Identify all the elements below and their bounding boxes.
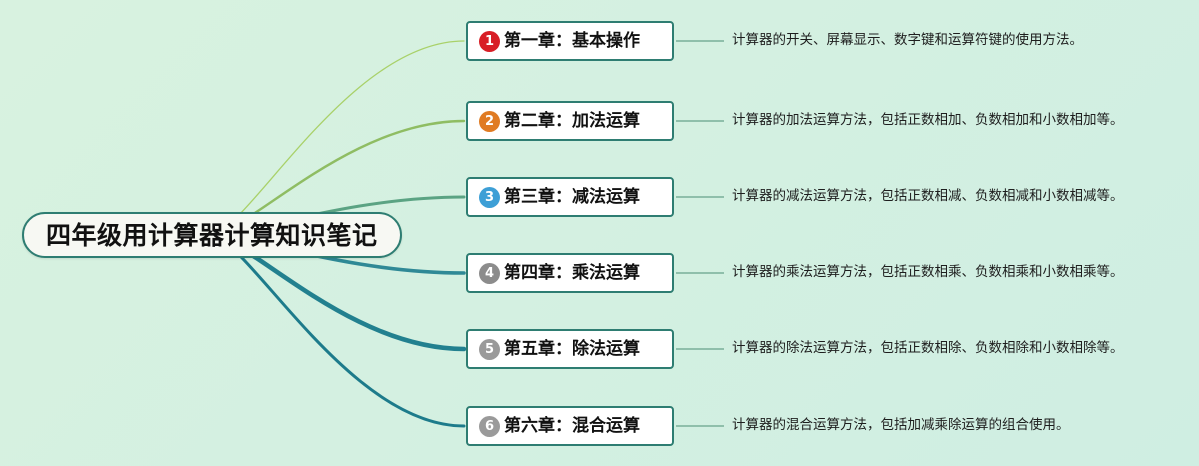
chapter-description-3: 计算器的减法运算方法，包括正数相减、负数相减和小数相减等。 [732, 190, 1124, 204]
root-node-label: 四年级用计算器计算知识笔记 [46, 223, 378, 248]
chapter-label-4: 第四章：乘法运算 [504, 265, 640, 282]
leaf-connector-6 [676, 425, 724, 427]
chapter-badge-2: 2 [479, 111, 500, 132]
chapter-node-2[interactable]: 2 第二章：加法运算 [466, 101, 674, 141]
leaf-connector-4 [676, 272, 724, 274]
chapter-label-3: 第三章：减法运算 [504, 189, 640, 206]
chapter-label-1: 第一章：基本操作 [504, 33, 640, 50]
chapter-node-6[interactable]: 6 第六章：混合运算 [466, 406, 674, 446]
chapter-node-4[interactable]: 4 第四章：乘法运算 [466, 253, 674, 293]
leaf-connector-2 [676, 120, 724, 122]
root-node[interactable]: 四年级用计算器计算知识笔记 [22, 212, 402, 258]
leaf-connector-3 [676, 196, 724, 198]
chapter-badge-1: 1 [479, 31, 500, 52]
chapter-description-1: 计算器的开关、屏幕显示、数字键和运算符键的使用方法。 [732, 34, 1083, 48]
chapter-badge-6: 6 [479, 416, 500, 437]
chapter-badge-5: 5 [479, 339, 500, 360]
chapter-badge-4: 4 [479, 263, 500, 284]
chapter-description-6: 计算器的混合运算方法，包括加减乘除运算的组合使用。 [732, 419, 1070, 433]
chapter-node-5[interactable]: 5 第五章：除法运算 [466, 329, 674, 369]
chapter-description-2: 计算器的加法运算方法，包括正数相加、负数相加和小数相加等。 [732, 114, 1124, 128]
chapter-description-4: 计算器的乘法运算方法，包括正数相乘、负数相乘和小数相乘等。 [732, 266, 1124, 280]
leaf-connector-1 [676, 40, 724, 42]
leaf-connector-5 [676, 348, 724, 350]
chapter-label-6: 第六章：混合运算 [504, 418, 640, 435]
mindmap-canvas: 四年级用计算器计算知识笔记 1 第一章：基本操作 计算器的开关、屏幕显示、数字键… [0, 0, 1199, 466]
chapter-node-3[interactable]: 3 第三章：减法运算 [466, 177, 674, 217]
chapter-badge-3: 3 [479, 187, 500, 208]
chapter-label-5: 第五章：除法运算 [504, 341, 640, 358]
chapter-description-5: 计算器的除法运算方法，包括正数相除、负数相除和小数相除等。 [732, 342, 1124, 356]
chapter-node-1[interactable]: 1 第一章：基本操作 [466, 21, 674, 61]
chapter-label-2: 第二章：加法运算 [504, 113, 640, 130]
